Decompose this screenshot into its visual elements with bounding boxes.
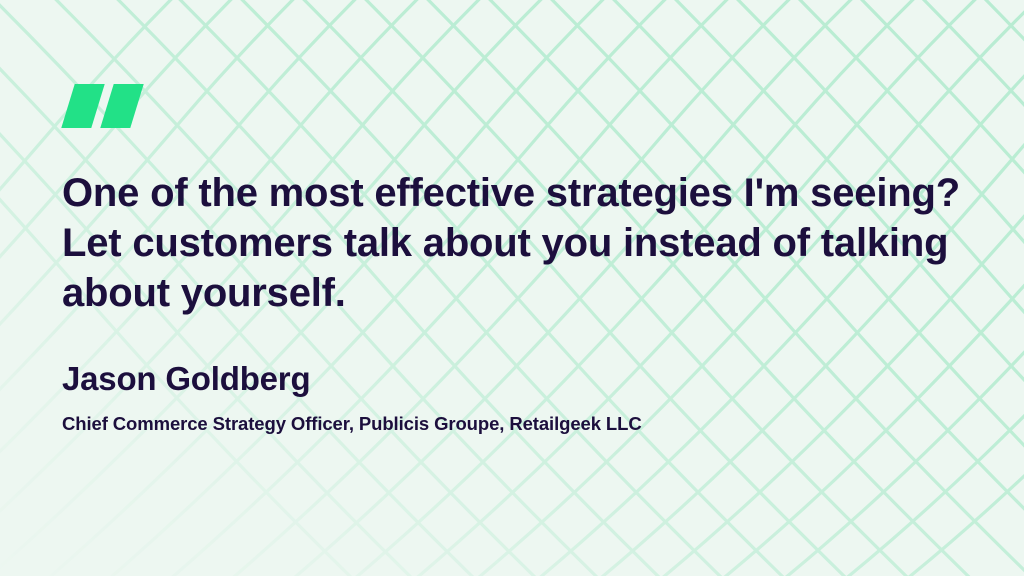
author-name: Jason Goldberg (62, 358, 962, 400)
quote-bar-left (61, 84, 104, 128)
quote-text: One of the most effective strategies I'm… (62, 168, 977, 318)
quote-line-2: Let customers talk about you instead of … (62, 218, 977, 268)
attribution: Jason Goldberg Chief Commerce Strategy O… (62, 358, 962, 436)
author-title: Chief Commerce Strategy Officer, Publici… (62, 412, 962, 436)
slide-content: One of the most effective strategies I'm… (62, 0, 982, 576)
quote-line-3: about yourself. (62, 268, 977, 318)
quote-slide: One of the most effective strategies I'm… (0, 0, 1024, 576)
quote-bar-right (100, 84, 143, 128)
open-quote-icon (62, 84, 142, 128)
quote-line-1: One of the most effective strategies I'm… (62, 168, 977, 218)
